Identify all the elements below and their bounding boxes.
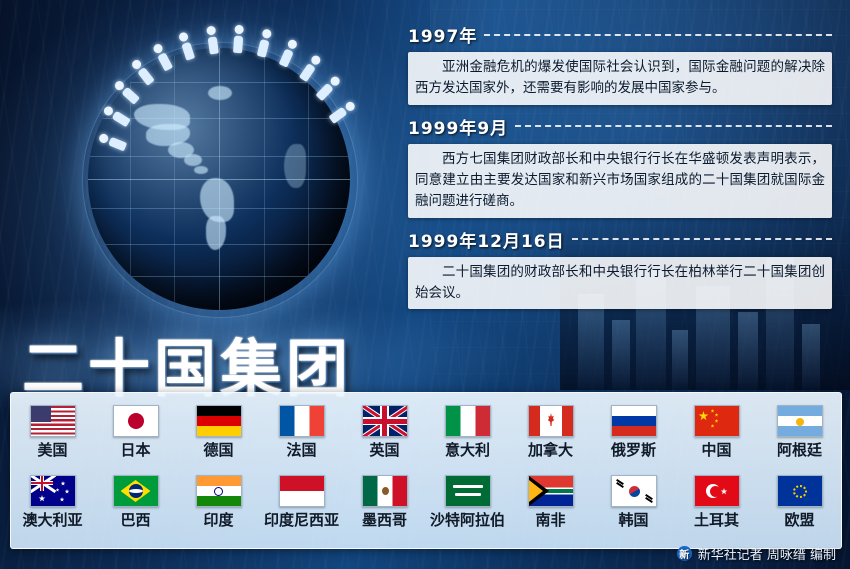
member-name: 美国 <box>37 442 67 459</box>
timeline-text: 二十国集团的财政部长和中央银行行长在柏林举行二十国集团创始会议。 <box>415 262 825 304</box>
timeline-item: 1999年9月 西方七国集团财政部长和中央银行行长在华盛顿发表声明表示，同意建立… <box>408 114 832 218</box>
flag-saudi-arabia <box>445 475 491 507</box>
member-name: 巴西 <box>120 512 150 529</box>
member-cell[interactable]: 土耳其 <box>675 475 758 529</box>
flag-south-korea <box>611 475 657 507</box>
credit-line: 新 新华社记者 周咏缙 编制 <box>677 544 836 563</box>
timeline-year: 1999年12月16日 <box>408 227 565 252</box>
xinhua-logo-icon: 新 <box>677 546 692 561</box>
member-cell[interactable]: 阿根廷 <box>758 405 841 459</box>
member-cell[interactable]: 欧盟 <box>758 475 841 529</box>
member-cell[interactable]: 南非 <box>509 475 592 529</box>
flag-italy <box>445 405 491 437</box>
member-name: 法国 <box>286 442 316 459</box>
flag-south-africa <box>528 475 574 507</box>
globe-illustration <box>46 10 386 340</box>
member-name: 澳大利亚 <box>22 512 82 529</box>
people-ring <box>46 10 386 210</box>
flag-argentina <box>777 405 823 437</box>
flag-germany <box>196 405 242 437</box>
members-row-1: 美国 日本 德国 法国 <box>11 405 841 459</box>
member-cell[interactable]: 印度尼西亚 <box>260 475 343 529</box>
timeline-item: 1999年12月16日 二十国集团的财政部长和中央银行行长在柏林举行二十国集团创… <box>408 227 832 310</box>
flag-mexico <box>362 475 408 507</box>
member-name: 韩国 <box>618 512 648 529</box>
flag-european-union <box>777 475 823 507</box>
member-name: 南非 <box>535 512 565 529</box>
timeline-header: 1997年 <box>408 22 832 47</box>
member-name: 俄罗斯 <box>611 442 656 459</box>
member-name: 德国 <box>203 442 233 459</box>
flag-turkey <box>694 475 740 507</box>
member-name: 阿根廷 <box>777 442 822 459</box>
timeline-header: 1999年9月 <box>408 114 832 139</box>
timeline-body: 二十国集团的财政部长和中央银行行长在柏林举行二十国集团创始会议。 <box>408 257 832 310</box>
member-cell[interactable]: 沙特阿拉伯 <box>426 475 509 529</box>
flag-brazil <box>113 475 159 507</box>
timeline-year: 1999年9月 <box>408 114 508 139</box>
member-name: 英国 <box>369 442 399 459</box>
member-cell[interactable]: 意大利 <box>426 405 509 459</box>
member-name: 土耳其 <box>694 512 739 529</box>
member-name: 中国 <box>701 442 731 459</box>
member-cell[interactable]: 韩国 <box>592 475 675 529</box>
dashed-rule <box>484 34 832 36</box>
timeline-item: 1997年 亚洲金融危机的爆发使国际社会认识到，国际金融问题的解决除西方发达国家… <box>408 22 832 105</box>
flag-united-kingdom <box>362 405 408 437</box>
member-name: 印度 <box>203 512 233 529</box>
member-cell[interactable]: 德国 <box>177 405 260 459</box>
member-cell[interactable]: 墨西哥 <box>343 475 426 529</box>
member-name: 印度尼西亚 <box>264 512 339 529</box>
member-name: 意大利 <box>445 442 490 459</box>
timeline-header: 1999年12月16日 <box>408 227 832 252</box>
flag-indonesia <box>279 475 325 507</box>
member-cell[interactable]: 加拿大 <box>509 405 592 459</box>
member-cell[interactable]: 印度 <box>177 475 260 529</box>
flag-australia <box>30 475 76 507</box>
member-cell[interactable]: 俄罗斯 <box>592 405 675 459</box>
member-cell[interactable]: 美国 <box>11 405 94 459</box>
flag-russia <box>611 405 657 437</box>
credit-text: 新华社记者 周咏缙 编制 <box>698 544 836 563</box>
member-cell[interactable]: 澳大利亚 <box>11 475 94 529</box>
members-row-2: 澳大利亚 巴西 印度 <box>11 475 841 529</box>
member-cell[interactable]: 中国 <box>675 405 758 459</box>
flag-united-states <box>30 405 76 437</box>
timeline-text: 西方七国集团财政部长和中央银行行长在华盛顿发表声明表示，同意建立由主要发达国家和… <box>415 149 825 212</box>
flag-japan <box>113 405 159 437</box>
timeline-body: 西方七国集团财政部长和中央银行行长在华盛顿发表声明表示，同意建立由主要发达国家和… <box>408 144 832 218</box>
timeline-body: 亚洲金融危机的爆发使国际社会认识到，国际金融问题的解决除西方发达国家外，还需要有… <box>408 52 832 105</box>
member-cell[interactable]: 英国 <box>343 405 426 459</box>
flag-france <box>279 405 325 437</box>
member-name: 沙特阿拉伯 <box>430 512 505 529</box>
member-name: 墨西哥 <box>362 512 407 529</box>
member-cell[interactable]: 法国 <box>260 405 343 459</box>
timeline-text: 亚洲金融危机的爆发使国际社会认识到，国际金融问题的解决除西方发达国家外，还需要有… <box>415 57 825 99</box>
dashed-rule <box>572 238 832 240</box>
timeline-year: 1997年 <box>408 22 477 47</box>
flag-china <box>694 405 740 437</box>
flag-india <box>196 475 242 507</box>
flag-canada <box>528 405 574 437</box>
infographic-poster: 二十国集团 1997年 亚洲金融危机的爆发使国际社会认识到，国际金融问题的解决除… <box>0 0 850 569</box>
member-name: 欧盟 <box>784 512 814 529</box>
dashed-rule <box>515 125 832 127</box>
members-panel: 美国 日本 德国 法国 <box>10 392 842 549</box>
member-name: 日本 <box>120 442 150 459</box>
member-cell[interactable]: 巴西 <box>94 475 177 529</box>
member-name: 加拿大 <box>528 442 573 459</box>
timeline: 1997年 亚洲金融危机的爆发使国际社会认识到，国际金融问题的解决除西方发达国家… <box>408 22 832 318</box>
member-cell[interactable]: 日本 <box>94 405 177 459</box>
